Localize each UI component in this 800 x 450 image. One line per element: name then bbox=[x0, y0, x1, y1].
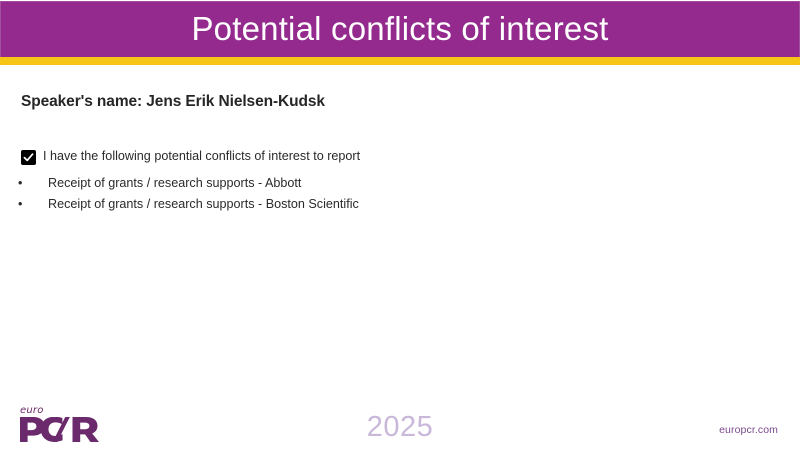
bullet-marker-icon: • bbox=[18, 194, 48, 215]
list-item-label: Receipt of grants / research supports - … bbox=[48, 194, 359, 215]
declaration-row[interactable]: I have the following potential conflicts… bbox=[21, 149, 360, 165]
slide-canvas: Potential conflicts of interest Speaker'… bbox=[0, 0, 800, 450]
slide-header-band: Potential conflicts of interest bbox=[0, 1, 800, 57]
list-item: • Receipt of grants / research supports … bbox=[18, 173, 718, 194]
header-accent-stripe bbox=[0, 57, 800, 65]
declaration-label: I have the following potential conflicts… bbox=[43, 149, 360, 164]
checkbox-checked-icon[interactable] bbox=[21, 150, 36, 165]
conflicts-list: • Receipt of grants / research supports … bbox=[18, 173, 718, 215]
footer-year: 2025 bbox=[0, 410, 800, 444]
bullet-marker-icon: • bbox=[18, 173, 48, 194]
page-title: Potential conflicts of interest bbox=[191, 12, 608, 47]
list-item-label: Receipt of grants / research supports - … bbox=[48, 173, 301, 194]
footer-website-url[interactable]: europcr.com bbox=[719, 424, 778, 436]
speaker-name-line: Speaker's name: Jens Erik Nielsen-Kudsk bbox=[21, 93, 325, 111]
list-item: • Receipt of grants / research supports … bbox=[18, 194, 718, 215]
